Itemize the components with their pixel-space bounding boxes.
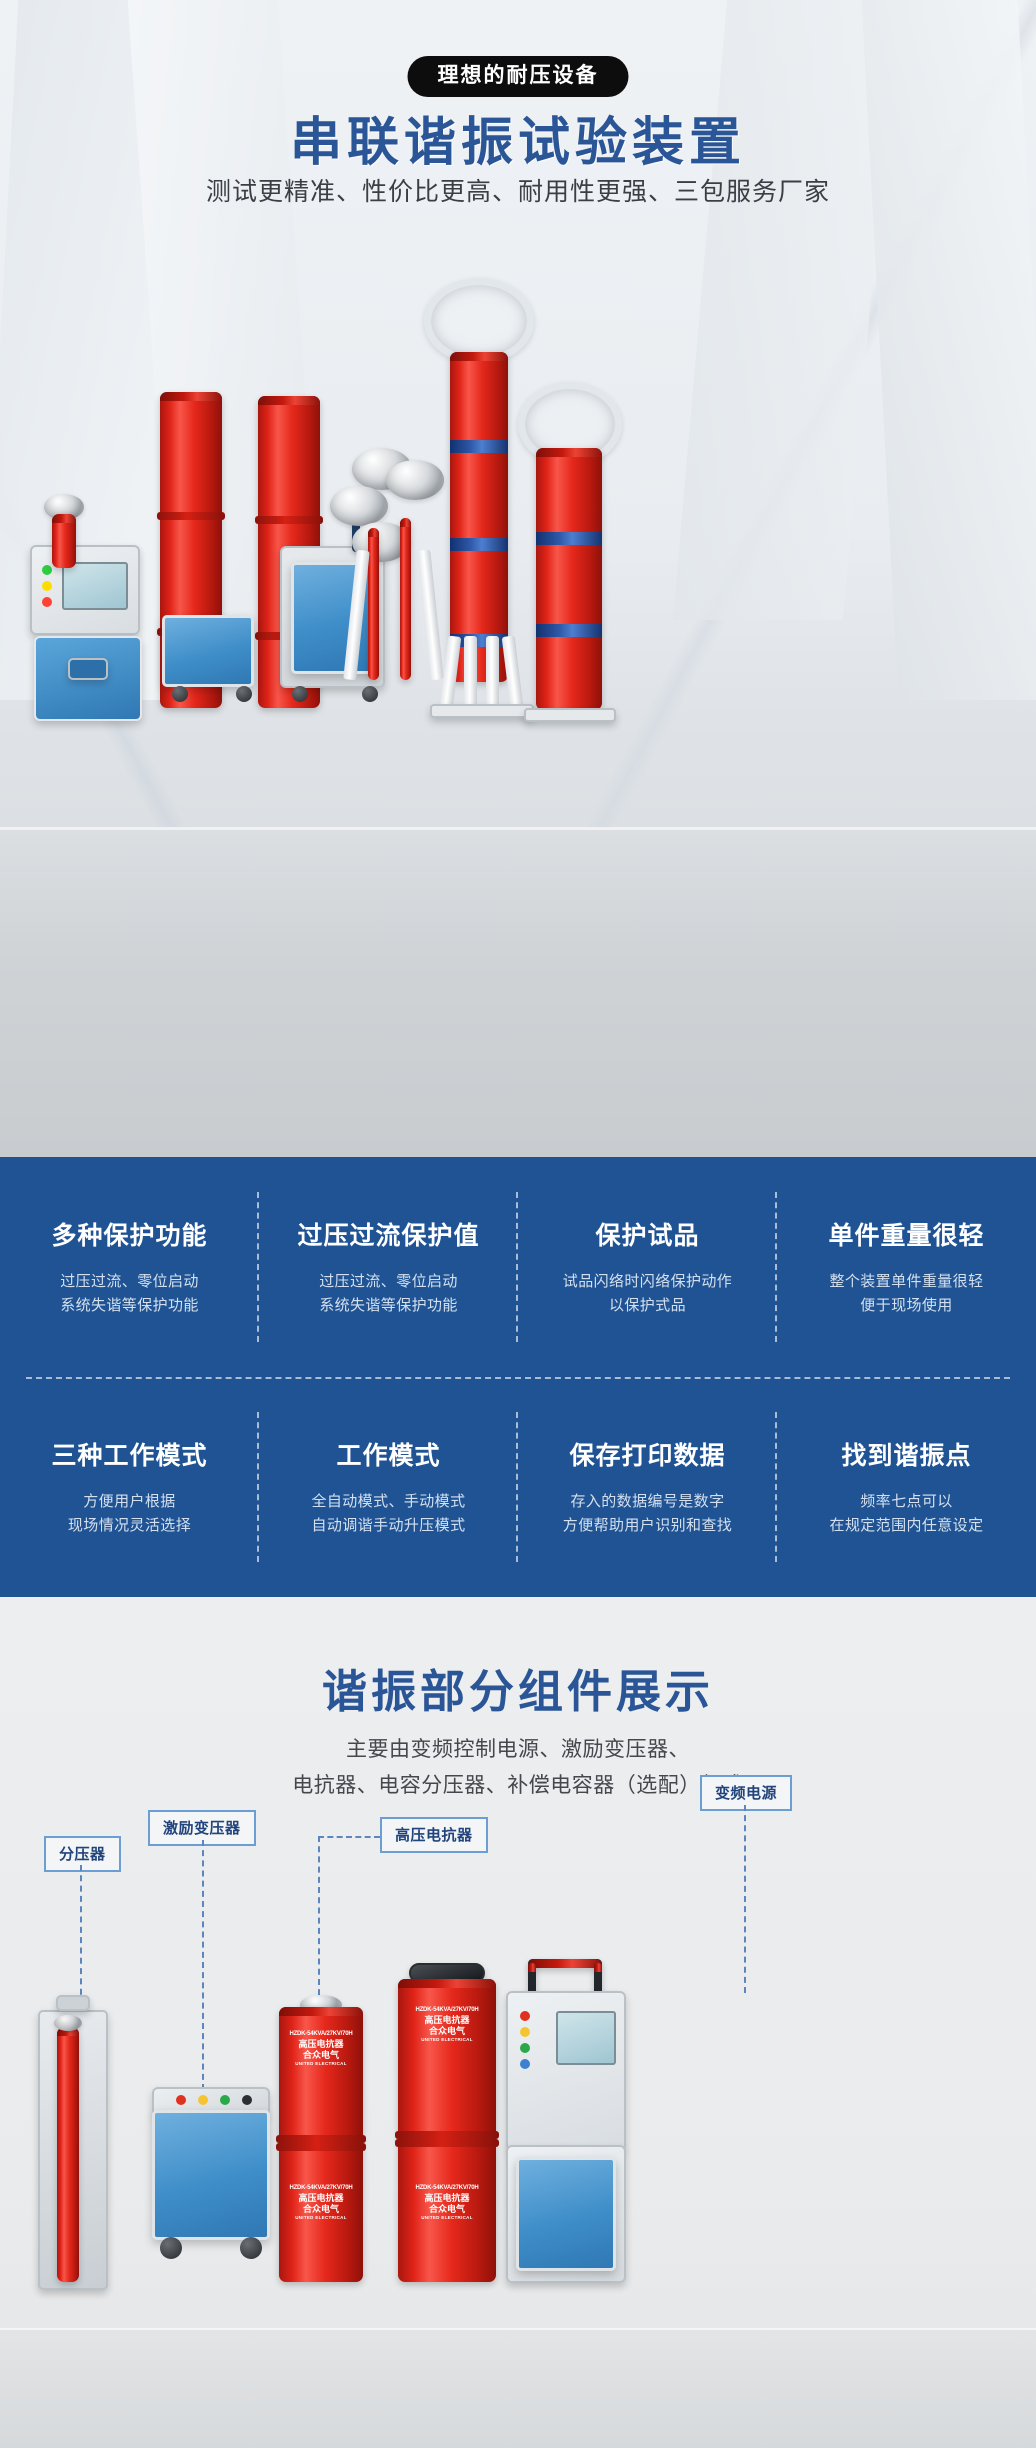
feature-title: 过压过流保护值 [297,1216,479,1252]
blue-transport-case [162,615,254,687]
feature-title: 三种工作模式 [51,1436,207,1472]
reactor-brand: 合众电气 [400,2026,494,2037]
reactor-base [524,708,616,722]
callout-hv-reactor: 高压电抗器 [380,1817,488,1853]
terminal-post [242,2095,252,2105]
feature-card: 三种工作模式 方便用户根据 现场情况灵活选择 [0,1377,259,1597]
feature-title: 找到谐振点 [841,1436,971,1472]
hero-section: 理想的耐压设备 串联谐振试验装置 测试更精准、性价比更高、耐用性更强、三包服务厂… [0,0,1036,1157]
reactor-ring [395,2131,499,2139]
components-floor [0,2328,1036,2448]
reactor-blue-band [536,624,602,637]
excitation-transformer-body [152,2110,270,2240]
reactor-nameplate: HZDK-54KVA/27KV/70H 高压电抗器 合众电气 UNITED EL… [281,2185,361,2221]
feature-desc-line: 现场情况灵活选择 [68,1514,191,1538]
section-subtitle-line: 电抗器、电容分压器、补偿电容器（选配）组成 [292,1774,744,1797]
reactor-blue-band [450,440,508,453]
feature-desc-line: 方便用户根据 [68,1490,191,1514]
reactor-base [430,704,534,718]
feature-desc-line: 方便帮助用户识别和查找 [563,1514,732,1538]
converter-trolley-handle [528,1959,602,1968]
feature-desc-line: 过压过流、零位启动 [319,1270,458,1294]
callout-voltage-divider: 分压器 [44,1836,121,1872]
reactor-name: 高压电抗器 [281,2039,361,2050]
reactor-ring [276,2135,366,2143]
converter-indicator [520,2043,530,2053]
feature-desc: 全自动模式、手动模式 自动调谐手动升压模式 [311,1490,465,1539]
reactor-support-leg [464,636,477,708]
product-detail-page: 理想的耐压设备 串联谐振试验装置 测试更精准、性价比更高、耐用性更强、三包服务厂… [0,0,1036,2448]
divider-case-handle [56,1995,90,2011]
grading-toroid [330,486,388,526]
reactor-support-leg [486,636,499,708]
feature-desc: 整个装置单件重量很轻 便于现场使用 [829,1270,983,1319]
feature-card: 保护试品 试品闪络时闪络保护动作 以保护式品 [518,1157,777,1377]
transformer-wheel [240,2237,262,2259]
feature-desc-line: 便于现场使用 [829,1294,983,1318]
feature-desc-line: 以保护式品 [563,1294,732,1318]
converter-lower-panel [516,2157,616,2271]
voltage-divider-rod [57,2027,79,2282]
feature-desc-line: 存入的数据编号是数字 [563,1490,732,1514]
callout-leader-line [744,1805,746,1993]
column-ring [255,516,323,524]
horizontal-divider [26,1377,1010,1379]
terminal-post [176,2095,186,2105]
feature-card: 多种保护功能 过压过流、零位启动 系统失谐等保护功能 [0,1157,259,1377]
converter-indicator [520,2059,530,2069]
case-wheel [172,686,188,702]
console-indicator [42,565,52,575]
reactor-brand-en: UNITED ELECTRICAL [400,2037,494,2043]
console-screen [62,562,128,610]
feature-card: 单件重量很轻 整个装置单件重量很轻 便于现场使用 [777,1157,1036,1377]
feature-title: 工作模式 [336,1436,440,1472]
reactor-name: 高压电抗器 [281,2193,361,2204]
case-wheel [236,686,252,702]
console-indicator [42,581,52,591]
reactor-brand: 合众电气 [400,2204,494,2215]
feature-card: 过压过流保护值 过压过流、零位启动 系统失谐等保护功能 [259,1157,518,1377]
console-handle [68,658,108,680]
terminal-post [220,2095,230,2105]
red-insulator-column [52,514,76,568]
red-support-rod [368,528,379,680]
feature-desc: 存入的数据编号是数字 方便帮助用户识别和查找 [563,1490,732,1539]
feature-card: 找到谐振点 频率七点可以 在规定范围内任意设定 [777,1377,1036,1597]
page-title: 串联谐振试验装置 [0,100,1036,175]
red-support-rod [400,518,411,680]
hero-subtitle: 测试更精准、性价比更高、耐用性更强、三包服务厂家 [0,172,1036,208]
feature-desc-line: 整个装置单件重量很轻 [829,1270,983,1294]
feature-desc-line: 过压过流、零位启动 [60,1270,199,1294]
product-photo [0,300,1036,860]
reactor-brand: 合众电气 [281,2204,361,2215]
terminal-post [198,2095,208,2105]
reactor-brand-en: UNITED ELECTRICAL [400,2215,494,2221]
feature-desc-line: 系统失谐等保护功能 [60,1294,199,1318]
feature-desc-line: 自动调谐手动升压模式 [311,1514,465,1538]
reactor-model: HZDK-54KVA/27KV/70H [400,2007,494,2015]
column-ring [157,512,225,520]
high-voltage-reactor-column [450,352,508,682]
feature-desc-line: 试品闪络时闪络保护动作 [563,1270,732,1294]
high-voltage-reactor-column [536,448,602,710]
reactor-model: HZDK-54KVA/27KV/70H [400,2185,494,2193]
transformer-wheel [160,2237,182,2259]
callout-frequency-converter: 变频电源 [700,1775,792,1811]
section-subtitle: 主要由变频控制电源、激励变压器、 电抗器、电容分压器、补偿电容器（选配）组成 [0,1732,1036,1804]
callout-leader-line [80,1865,82,2005]
feature-desc-line: 在规定范围内任意设定 [829,1514,983,1538]
feature-title: 多种保护功能 [51,1216,207,1252]
reactor-blue-band [450,538,508,551]
section-title: 谐振部分组件展示 [0,1655,1036,1720]
reactor-blue-band [536,532,602,545]
feature-title: 保存打印数据 [569,1436,725,1472]
callout-leader-line [202,1840,204,2090]
reactor-nameplate: HZDK-54KVA/27KV/70H 高压电抗器 合众电气 UNITED EL… [400,2007,494,2043]
grading-toroid [386,460,444,500]
reactor-model: HZDK-54KVA/27KV/70H [281,2185,361,2193]
console-indicator [42,597,52,607]
feature-card: 工作模式 全自动模式、手动模式 自动调谐手动升压模式 [259,1377,518,1597]
feature-desc: 试品闪络时闪络保护动作 以保护式品 [563,1270,732,1319]
feature-desc-line: 全自动模式、手动模式 [311,1490,465,1514]
reactor-nameplate: HZDK-54KVA/27KV/70H 高压电抗器 合众电气 UNITED EL… [281,2031,361,2067]
converter-screen [556,2011,616,2065]
reactor-brand: 合众电气 [281,2050,361,2061]
components-section: 谐振部分组件展示 主要由变频控制电源、激励变压器、 电抗器、电容分压器、补偿电容… [0,1597,1036,2448]
divider-top-cap [54,2015,82,2031]
section-subtitle-line: 主要由变频控制电源、激励变压器、 [346,1738,690,1761]
feature-card: 保存打印数据 存入的数据编号是数字 方便帮助用户识别和查找 [518,1377,777,1597]
feature-title: 保护试品 [595,1216,699,1252]
converter-indicator [520,2027,530,2037]
feature-desc: 过压过流、零位启动 系统失谐等保护功能 [319,1270,458,1319]
reactor-brand-en: UNITED ELECTRICAL [281,2061,361,2067]
feature-desc: 频率七点可以 在规定范围内任意设定 [829,1490,983,1539]
feature-desc: 方便用户根据 现场情况灵活选择 [68,1490,191,1539]
reactor-ring [395,2139,499,2147]
features-section: 多种保护功能 过压过流、零位启动 系统失谐等保护功能 过压过流保护值 过压过流、… [0,1157,1036,1597]
case-wheel [292,686,308,702]
feature-desc-line: 系统失谐等保护功能 [319,1294,458,1318]
reactor-name: 高压电抗器 [400,2193,494,2204]
reactor-name: 高压电抗器 [400,2015,494,2026]
reactor-nameplate: HZDK-54KVA/27KV/70H 高压电抗器 合众电气 UNITED EL… [400,2185,494,2221]
callout-leader-line [318,1836,380,1838]
hero-badge: 理想的耐压设备 [408,56,629,97]
support-leg [417,550,444,681]
reactor-brand-en: UNITED ELECTRICAL [281,2215,361,2221]
reactor-model: HZDK-54KVA/27KV/70H [281,2031,361,2039]
feature-desc: 过压过流、零位启动 系统失谐等保护功能 [60,1270,199,1319]
studio-floor [0,827,1036,1157]
converter-indicator [520,2011,530,2021]
feature-title: 单件重量很轻 [828,1216,984,1252]
case-wheel [362,686,378,702]
feature-desc-line: 频率七点可以 [829,1490,983,1514]
reactor-ring [276,2143,366,2151]
